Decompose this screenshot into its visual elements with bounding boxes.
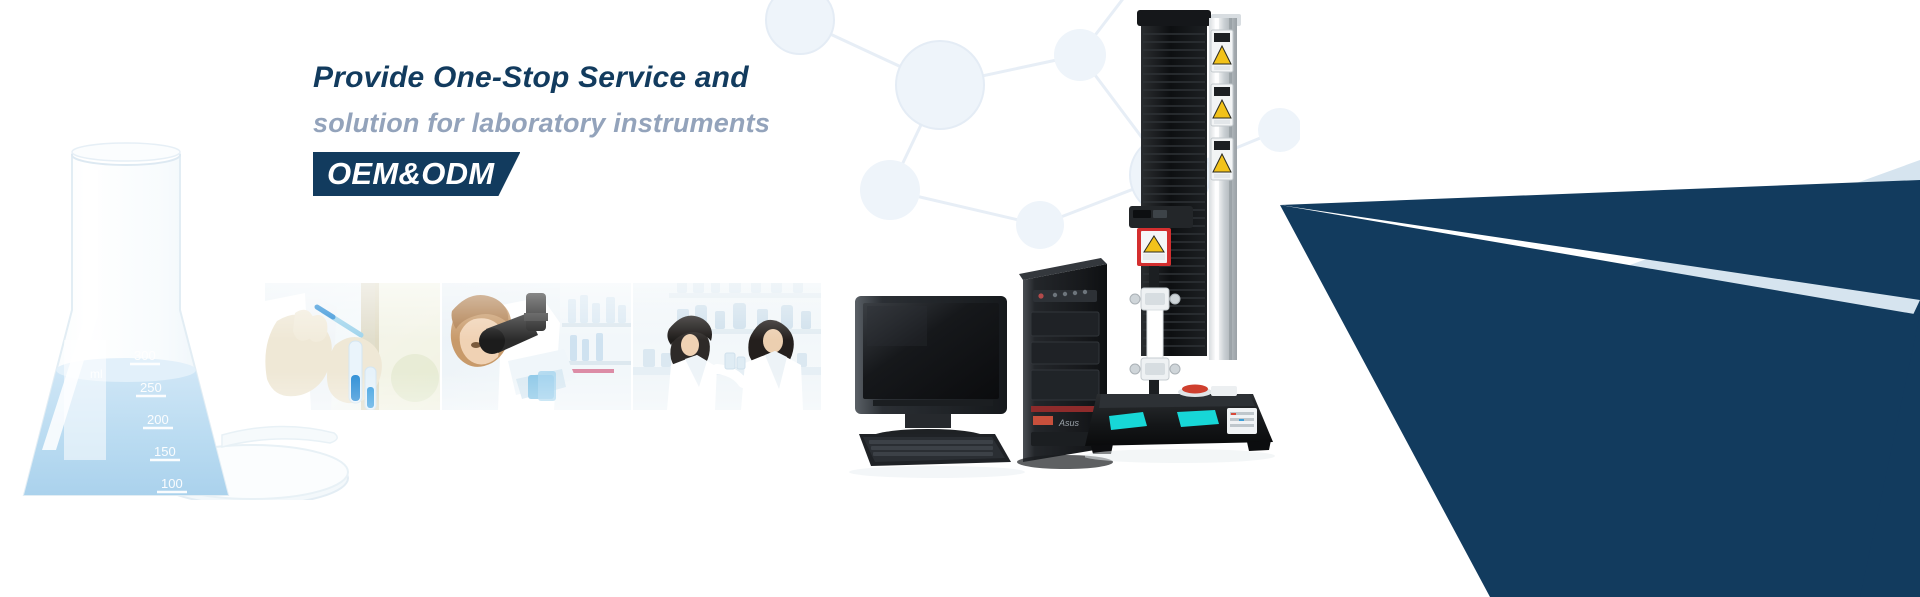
svg-text:100: 100 [161, 476, 183, 491]
svg-text:200: 200 [147, 412, 169, 427]
photo-lab-bench [633, 283, 821, 410]
photo-microscope [442, 283, 631, 410]
badge-row: OEM&ODM [313, 152, 1013, 196]
oem-odm-badge: OEM&ODM [313, 152, 520, 196]
headline-block: Provide One-Stop Service and solution fo… [313, 56, 1013, 196]
photo-pipetting [265, 283, 440, 410]
svg-text:ml: ml [90, 367, 103, 381]
decorative-triangles [1160, 0, 1920, 597]
photo-strip [265, 283, 821, 410]
svg-text:300: 300 [134, 348, 156, 363]
headline-line-2: solution for laboratory instruments [313, 100, 1013, 146]
promo-banner: 300 250 200 150 100 ml [0, 0, 1920, 597]
universal-testing-machine-icon [1085, 8, 1315, 463]
svg-text:150: 150 [154, 444, 176, 459]
svg-text:250: 250 [140, 380, 162, 395]
svg-text:Asus: Asus [1058, 418, 1080, 428]
headline-line-1: Provide One-Stop Service and [313, 56, 1013, 100]
